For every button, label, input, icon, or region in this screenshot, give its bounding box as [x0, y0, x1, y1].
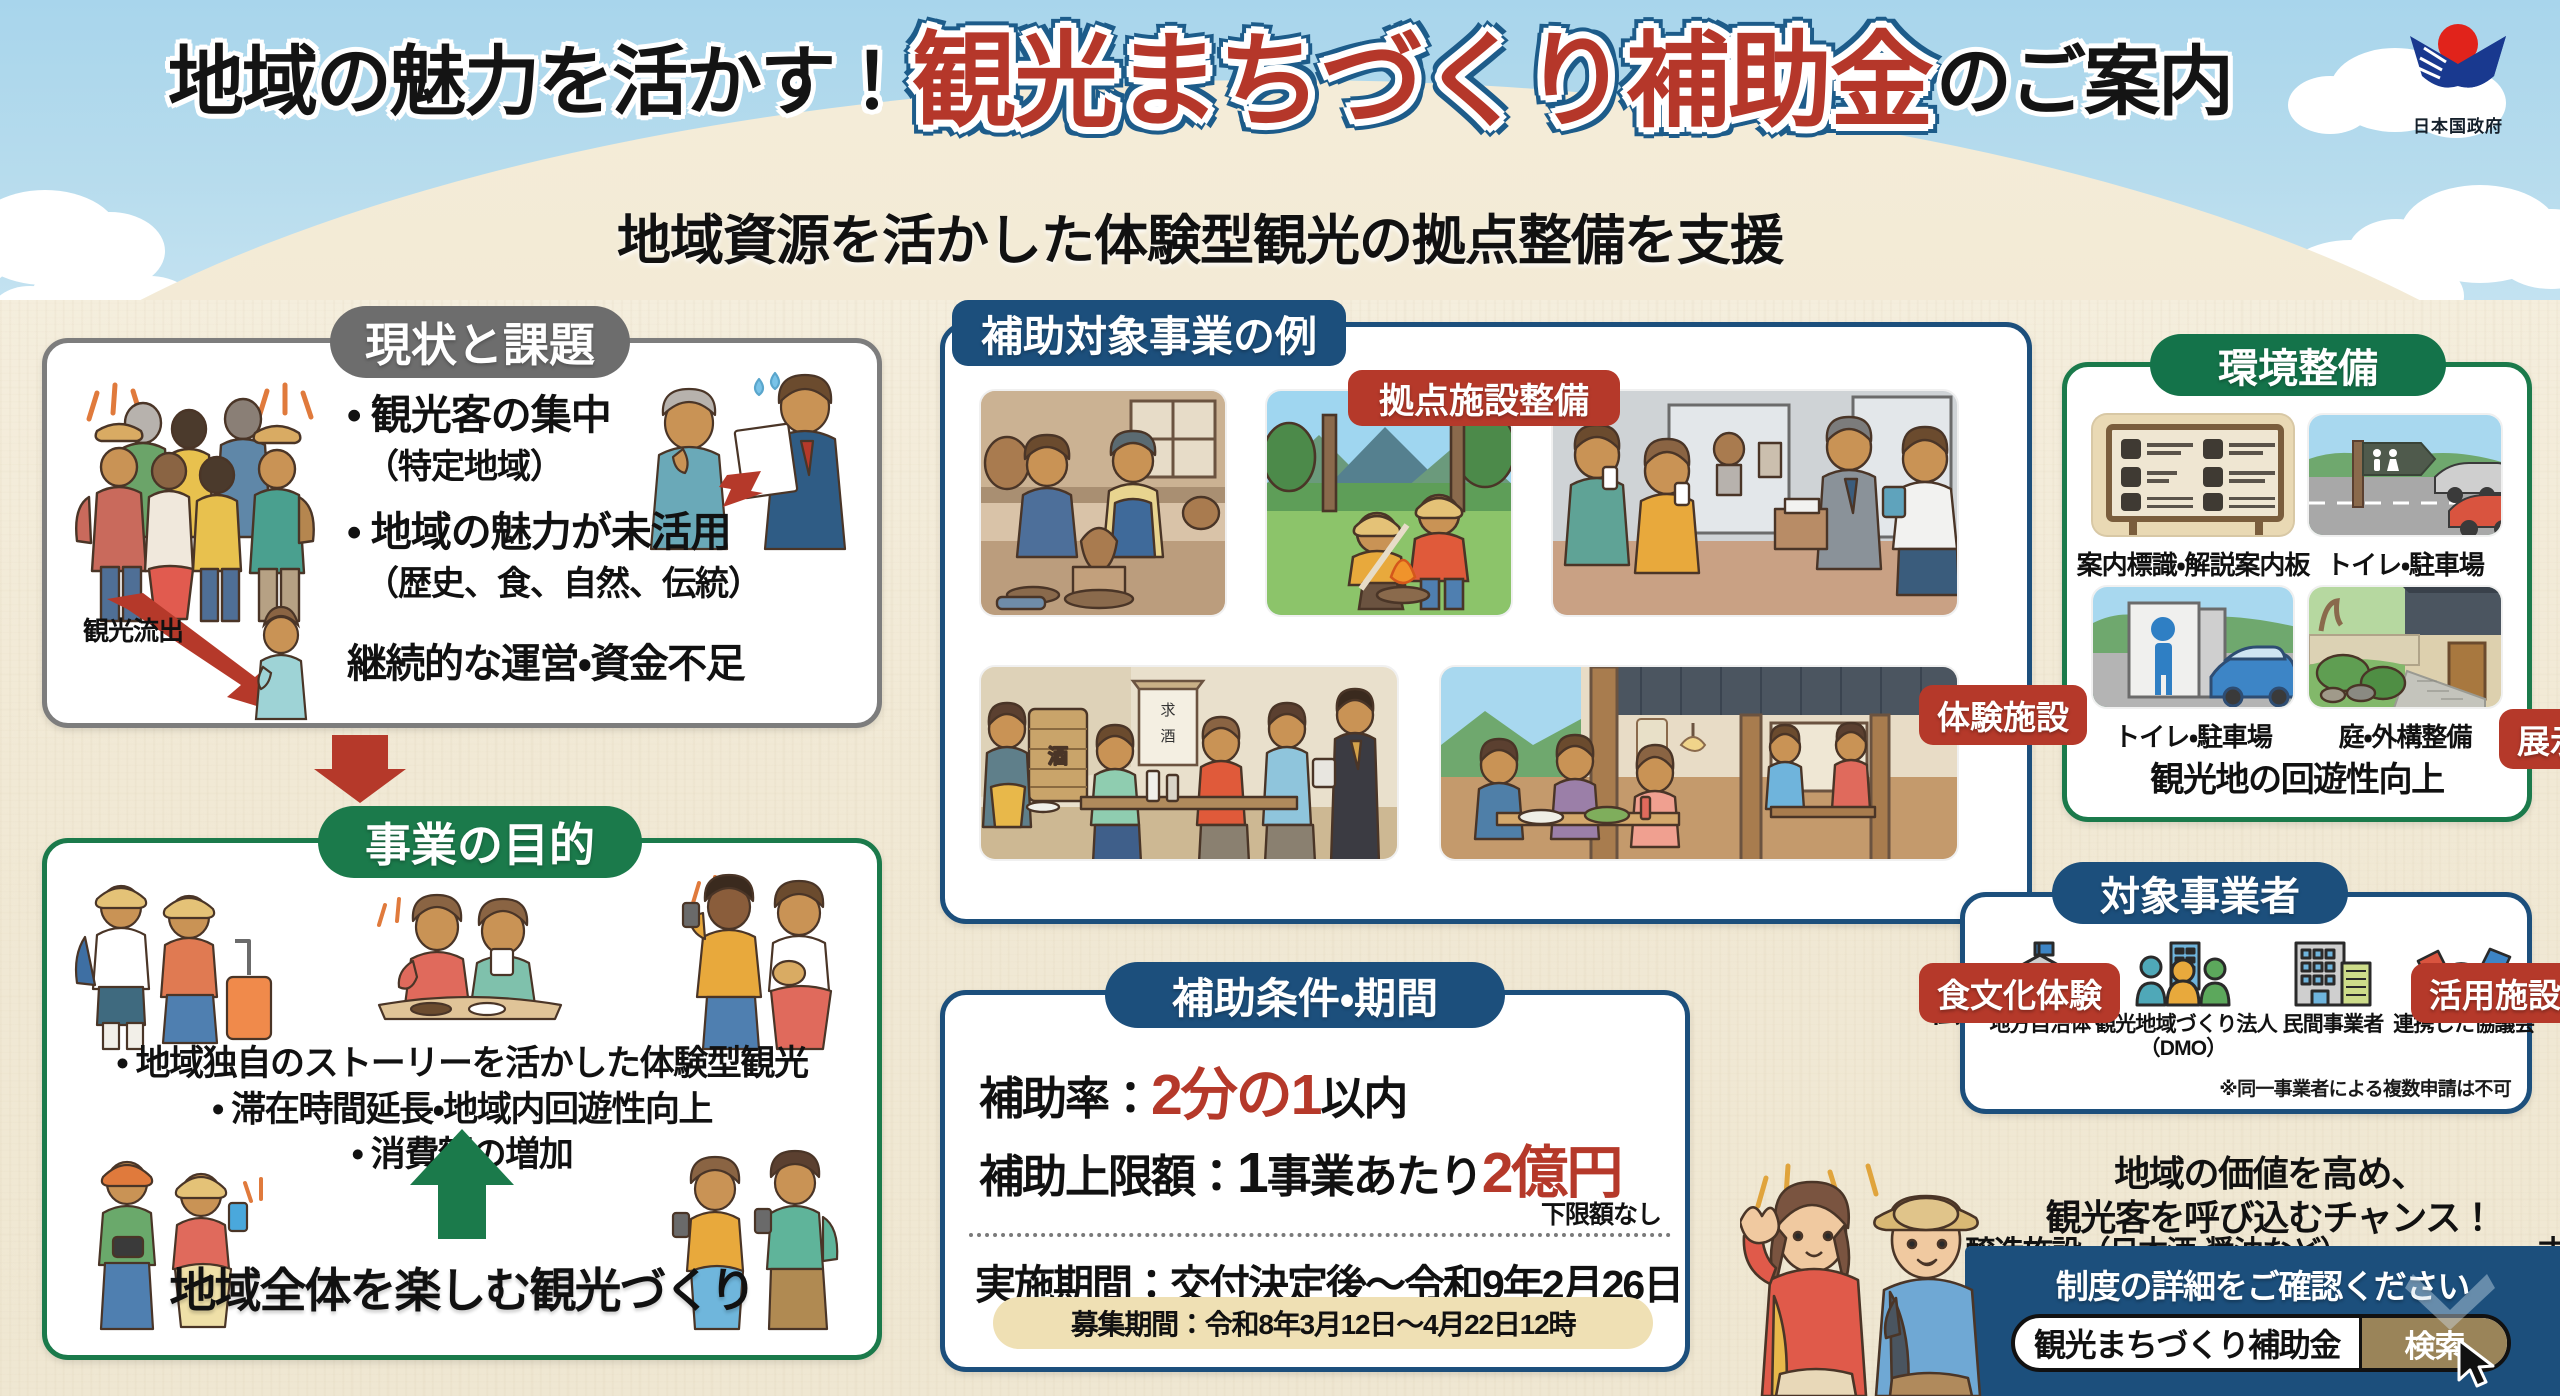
- photo-roadside-sign-parking: [2307, 413, 2503, 537]
- subsidy-rate-suffix: 以内: [1320, 1073, 1406, 1124]
- issue-3: 継続的な運営・資金不足: [347, 631, 867, 689]
- current-issues-panel: 観光流出 • 観光客の集中 （特定地域） • 地域の魅力が未活用 （歴史、食、自…: [42, 338, 882, 728]
- page-subtitle: 地域資源を活かした体験型観光の拠点整備を支援: [0, 196, 2400, 275]
- gov-logo-label: 日本国政府: [2413, 112, 2503, 137]
- current-issues-text: • 観光客の集中 （特定地域） • 地域の魅力が未活用 （歴史、食、自然、伝統）…: [347, 393, 867, 689]
- subsidy-rate-label: 補助率：: [979, 1073, 1151, 1124]
- applicant-private-business: 民間事業者: [2265, 941, 2401, 1037]
- purpose-item-0: • 地域独自のストーリーを活かした体験型観光: [47, 1041, 877, 1087]
- cta-headline-line1: 地域の価値を高め、: [1990, 1152, 2550, 1196]
- tag-experience-facility: 体験施設: [1919, 685, 2087, 745]
- travelers-with-suitcase-illustration: [63, 867, 283, 1057]
- project-purpose-heading: 事業の目的: [318, 806, 642, 878]
- subsidy-cap-note: 下限額なし: [1541, 1195, 1661, 1231]
- eligible-applicants-heading: 対象事業者: [2052, 862, 2348, 924]
- government-logo: 日本国政府: [2388, 18, 2528, 158]
- purpose-footer: 地域全体を楽しむ観光づくり: [47, 1252, 877, 1321]
- up-arrow-green-icon: [410, 1129, 514, 1237]
- subsidy-cap-mid: 事業あたり: [1267, 1151, 1482, 1202]
- japan-government-emblem-icon: [2402, 18, 2514, 110]
- applicant-label-2: 民間事業者: [2265, 1013, 2401, 1037]
- subsidy-conditions-heading: 補助条件・期間: [1105, 962, 1505, 1028]
- cta-panel: 制度の詳細をご確認ください 観光まちづくり補助金 検索: [1965, 1246, 2560, 1396]
- issue-2: • 地域の魅力が未活用: [347, 510, 867, 556]
- photo-kominka-utilization: [1439, 665, 1959, 861]
- photo-toilet-parking: [2091, 585, 2295, 709]
- title-left: 地域の魅力を活かす！: [168, 43, 908, 123]
- purpose-item-1: • 滞在時間延長・地域内回遊性向上: [47, 1087, 877, 1133]
- dining-couple-illustration: [365, 883, 575, 1043]
- subsidy-conditions-panel: 補助率：2分の1以内 補助上限額：1事業あたり2億円 下限額なし 実施期間：交付…: [940, 990, 1690, 1372]
- issue-2-sub: （歴史、食、自然、伝統）: [365, 556, 867, 605]
- issue-1-sub: （特定地域）: [365, 439, 867, 488]
- outflow-caption: 観光流出: [83, 611, 183, 648]
- tag-utilization-facility: 活用施設: [2411, 963, 2560, 1023]
- current-issues-heading: 現状と課題: [330, 306, 630, 378]
- waving-couple-illustration: [1740, 1148, 2010, 1396]
- caption-roadside-sign-parking: トイレ・駐車場: [2305, 545, 2505, 582]
- project-purpose-panel: • 地域独自のストーリーを活かした体験型観光 • 滞在時間延長・地域内回遊性向上…: [42, 838, 882, 1360]
- subsidy-cap-row: 補助上限額：1事業あたり2億円: [979, 1127, 1621, 1209]
- title-right: のご案内: [1936, 43, 2232, 123]
- environment-improvement-heading: 環境整備: [2150, 334, 2446, 396]
- divider: [969, 1233, 1671, 1237]
- hub-facility-tag: 拠点施設整備: [1348, 370, 1620, 426]
- tag-exhibition-guidance: 展示・案内: [2499, 709, 2560, 769]
- caption-toilet-parking: トイレ・駐車場: [2091, 717, 2295, 754]
- cta-headline: 地域の価値を高め、 観光客を呼び込むチャンス！: [1990, 1152, 2550, 1240]
- cta-headline-line2: 観光客を呼び込むチャンス！: [1990, 1196, 2550, 1240]
- crowd-of-tourists-illustration: [71, 371, 329, 631]
- subsidy-cap-label: 補助上限額：: [979, 1151, 1237, 1202]
- applicant-dmo: 観光地域づくり法人 （DMO）: [2095, 941, 2271, 1061]
- photo-guidance-signboard: [2091, 413, 2295, 537]
- svg-text:求: 求: [1160, 702, 1175, 719]
- caption-guidance-signboard: 案内標識・解説案内板: [2073, 545, 2313, 582]
- chevron-down-icon: [2405, 1268, 2495, 1334]
- people-and-building-icon: [2133, 941, 2233, 1009]
- mouse-cursor-icon: [2457, 1338, 2501, 1390]
- svg-text:酒: 酒: [1048, 745, 1068, 768]
- applicant-label-1: 観光地域づくり法人: [2095, 1013, 2271, 1037]
- eligible-projects-heading: 補助対象事業の例: [952, 300, 1346, 366]
- page-title: 地域の魅力を活かす！ 観光まちづくり補助金 のご案内: [0, 28, 2400, 137]
- subsidy-rate-row: 補助率：2分の1以内: [979, 1049, 1406, 1131]
- photo-traditional-craft-workshop: [979, 389, 1227, 617]
- office-building-icon: [2288, 941, 2378, 1009]
- applicant-sublabel-1: （DMO）: [2095, 1037, 2271, 1061]
- caption-garden-exterior: 庭・外構整備: [2307, 717, 2503, 754]
- subsidy-cap-num1: 1: [1237, 1141, 1267, 1205]
- svg-text:酒: 酒: [1160, 728, 1175, 745]
- application-period-badge: 募集期間：令和8年3月12日〜4月22日12時: [993, 1297, 1653, 1349]
- tag-food-culture-experience: 食文化体験: [1919, 963, 2120, 1023]
- issue-1: • 観光客の集中: [347, 393, 867, 439]
- environment-footer: 観光地の回遊性向上: [2067, 752, 2527, 801]
- tourists-with-phone-illustration: [643, 861, 869, 1057]
- search-input[interactable]: 観光まちづくり補助金: [2015, 1320, 2359, 1366]
- environment-improvement-panel: 案内標識・解説案内板 トイレ・駐車場: [2062, 362, 2532, 822]
- title-highlight: 観光まちづくり補助金: [912, 28, 1932, 137]
- photo-garden-exterior: [2307, 585, 2503, 709]
- subsidy-rate-value: 2分の1: [1151, 1063, 1320, 1127]
- photo-brewery-facility: 求 酒 酒: [979, 665, 1399, 861]
- applicant-note: ※同一事業者による複数申請は不可: [2219, 1074, 2511, 1101]
